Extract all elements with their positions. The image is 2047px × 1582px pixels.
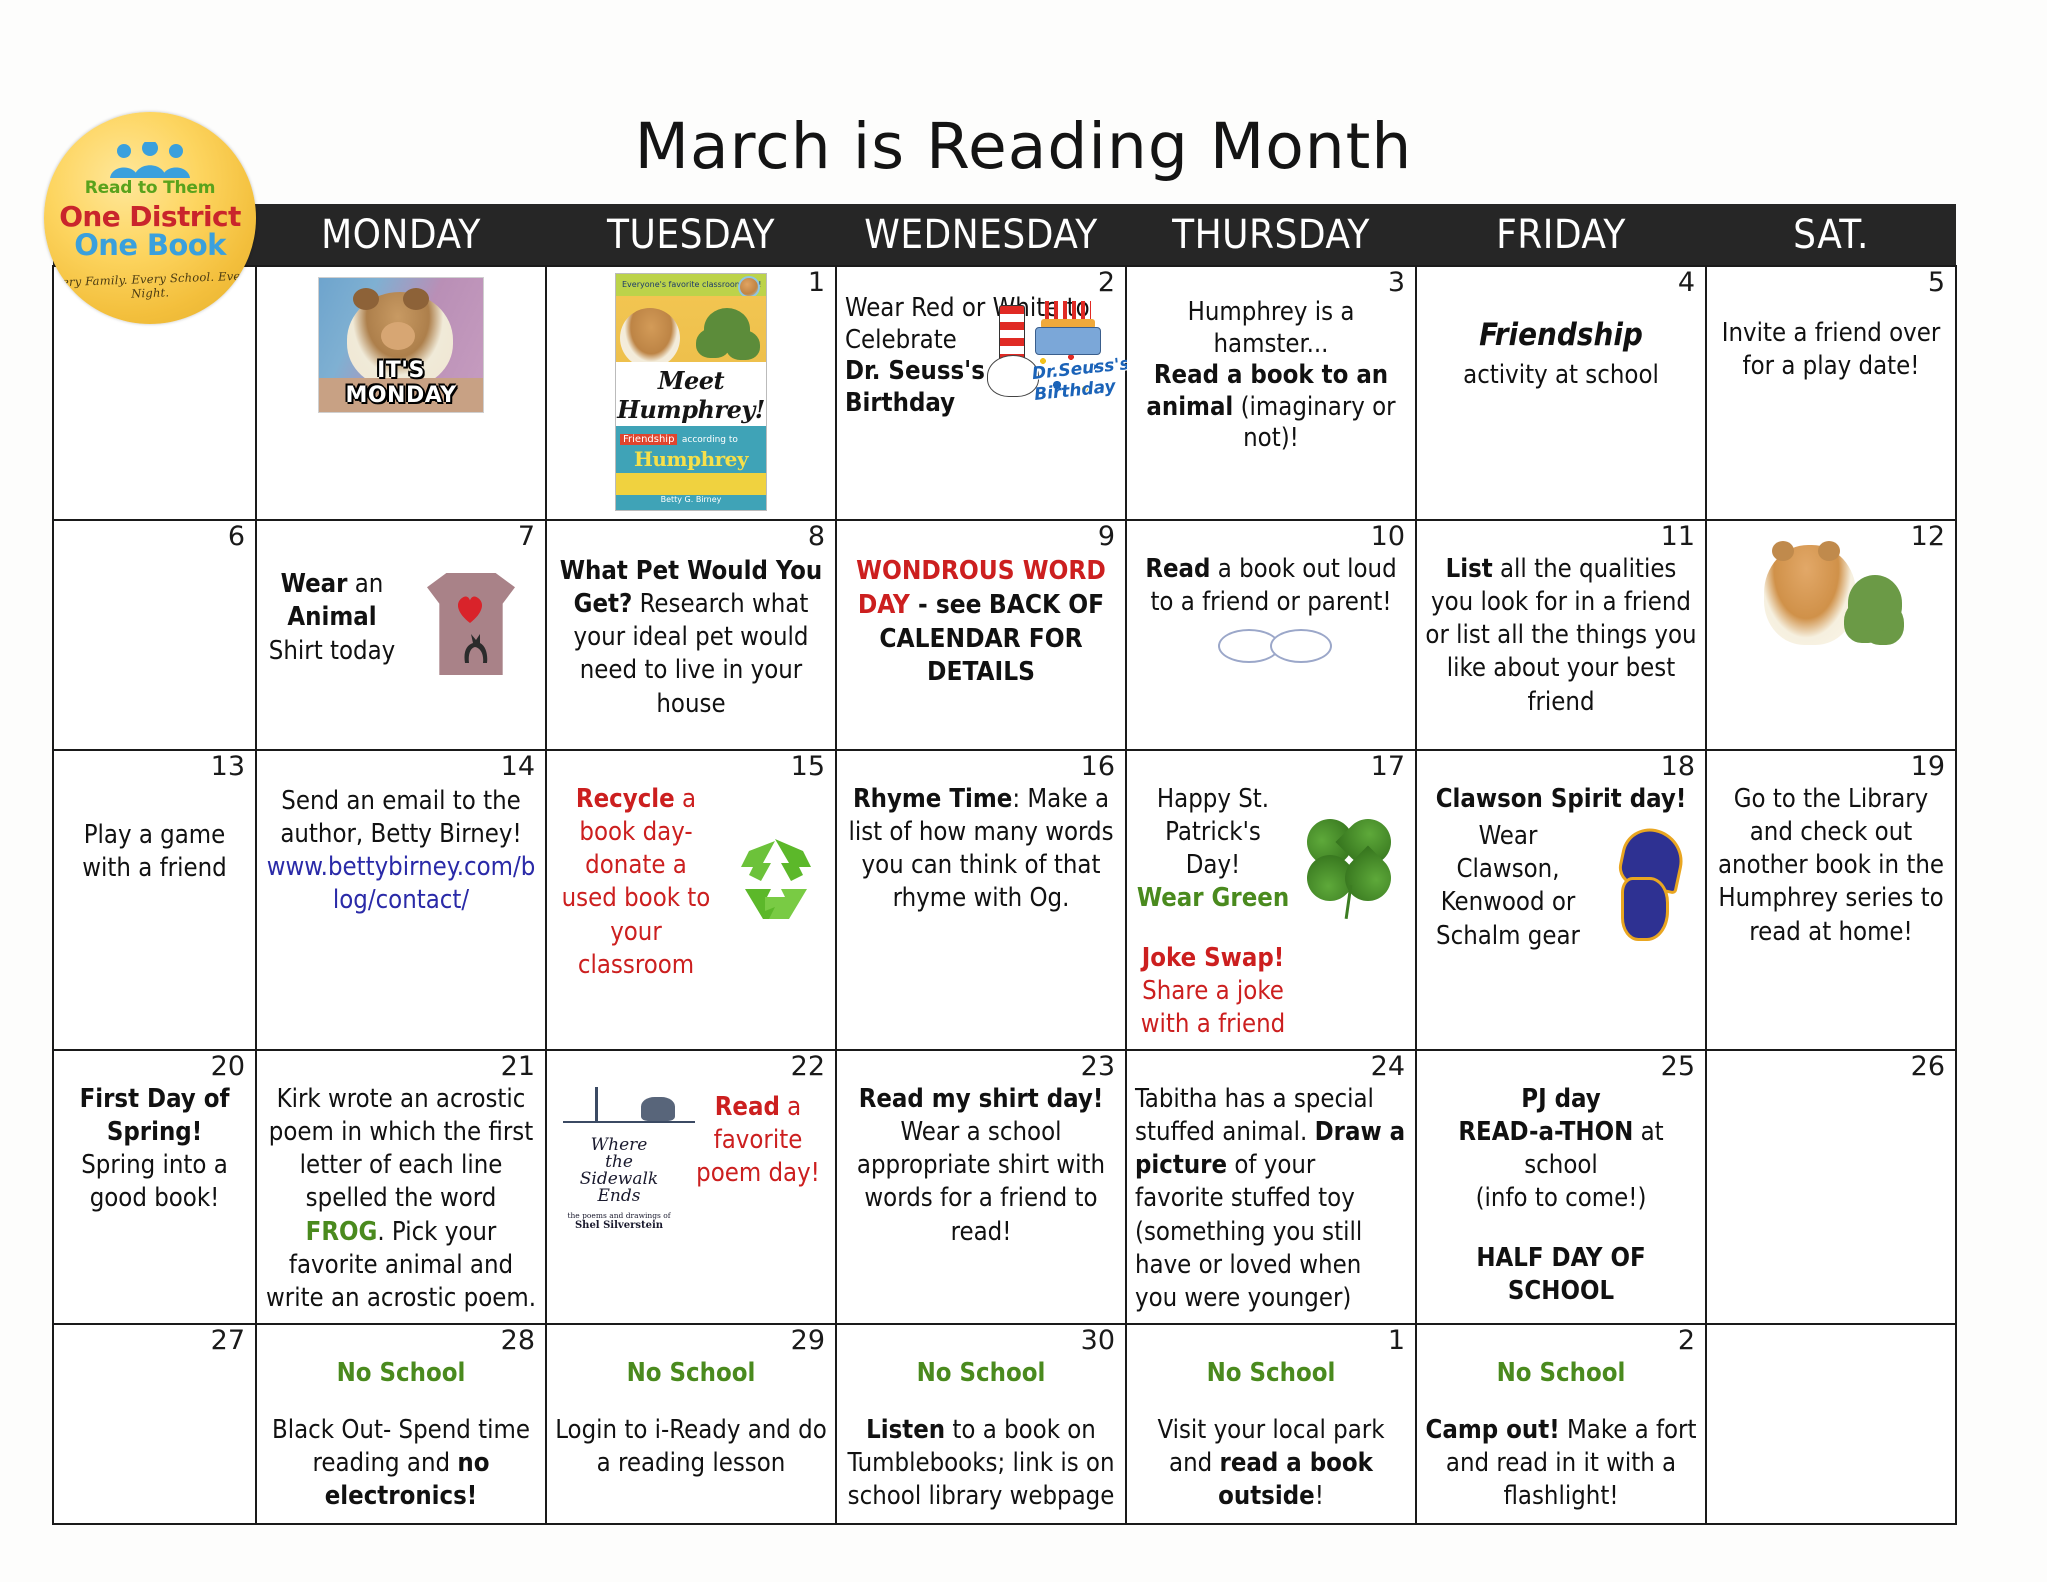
cell-text-line: donate a used book to your classroom: [555, 849, 717, 982]
calendar-cell-day-25[interactable]: 25 PJ day READ-a-THON at school (info to…: [1416, 1050, 1706, 1324]
cell-text-line: Go to the Library and check out another …: [1715, 783, 1947, 949]
calendar-cell-day-9[interactable]: 9 WONDROUS WORD DAY - see BACK OF CALEND…: [836, 520, 1126, 750]
day-number: 7: [518, 523, 535, 550]
cell-text-line: Animal: [265, 601, 399, 634]
day-header-monday: MONDAY: [256, 204, 546, 266]
cell-text-line: Read: [715, 1092, 780, 1122]
day-number: 4: [1678, 269, 1695, 296]
four-leaf-clover-icon: [1297, 809, 1407, 921]
cell-text-line: Wear Green: [1135, 882, 1291, 915]
cell-text-line: Invite a friend over for a play date!: [1715, 317, 1947, 383]
hamster-badge-icon: [738, 276, 760, 298]
day-number: 2: [1678, 1327, 1695, 1354]
calendar-cell-day-28[interactable]: 27 28 No School Black Out- Spend time re…: [256, 1324, 546, 1524]
calendar-week-row: 13 Play a game with a friend 14 Send an …: [53, 750, 1956, 1050]
day-number: 8: [808, 523, 825, 550]
animal-shirt-icon: [405, 555, 537, 681]
one-district-one-book-logo: Read to Them One District One Book Every…: [44, 112, 256, 324]
calendar-cell-day-4[interactable]: 4 Friendship activity at school: [1416, 266, 1706, 520]
day-number: 27: [211, 1327, 245, 1354]
cat-silhouette-icon: [457, 629, 493, 663]
book-series-small: according to: [682, 435, 738, 445]
calendar-header-row: MONDAY TUESDAY WEDNESDAY THURSDAY FRIDAY…: [53, 204, 1956, 266]
book-author: Betty G. Birney: [616, 495, 766, 504]
cell-text-line: READ-a-THON: [1458, 1117, 1633, 1147]
calendar-cell-day-20[interactable]: 20 First Day of Spring! Spring into a go…: [53, 1050, 256, 1324]
meme-caption: IT'S MONDAY: [319, 358, 483, 408]
cell-text-line: Play a game with a friend: [62, 819, 247, 885]
cell-text-line: (info to come!): [1425, 1182, 1697, 1215]
no-school-badge: No School: [1135, 1357, 1407, 1390]
day-number: 25: [1661, 1053, 1695, 1080]
day-number: 19: [1911, 753, 1945, 780]
day-number: 12: [1911, 523, 1945, 550]
cell-text-line: Send an email to the author, Betty Birne…: [265, 785, 537, 851]
calendar-cell-day-3[interactable]: 3 Humphrey is a hamster... Read a book t…: [1126, 266, 1416, 520]
day-number: 20: [211, 1053, 245, 1080]
day-number: 1: [808, 269, 825, 296]
cell-text-line: favorite poem day!: [689, 1124, 827, 1190]
calendar-cell-day-21[interactable]: 21 Kirk wrote an acrostic poem in which …: [256, 1050, 546, 1324]
calendar-cell-day-8[interactable]: 8 What Pet Would You Get? Research what …: [546, 520, 836, 750]
meet-humphrey-book-cover-image: Everyone's favorite classroom pet! Meet …: [615, 273, 767, 511]
day-number: 3: [1388, 269, 1405, 296]
day-number: 24: [1371, 1053, 1405, 1080]
calendar-cell-day-27[interactable]: 27: [53, 1324, 256, 1524]
calendar-week-row: 27 27 28 No School Black Out- Spend time…: [53, 1324, 1956, 1524]
seuss-birthday-caption: Dr.Seuss's Birthday: [1031, 354, 1133, 406]
day-header-saturday: SAT.: [1706, 204, 1956, 266]
book-subtitle: the poems and drawings of: [555, 1211, 683, 1220]
day-number: 9: [1098, 523, 1115, 550]
calendar-cell-empty-end: [1706, 1324, 1956, 1524]
day-header-wednesday: WEDNESDAY: [836, 204, 1126, 266]
day-number: 17: [1371, 753, 1405, 780]
calendar-cell-day-12[interactable]: 12: [1706, 520, 1956, 750]
cell-text-line: Read: [1145, 554, 1210, 584]
calendar-cell-day-2[interactable]: 2 Wear Red or White to Celebrate Dr. Seu…: [836, 266, 1126, 520]
cell-text-line: Humphrey is a hamster...: [1135, 297, 1407, 360]
calendar-cell-day-30[interactable]: 30 No School Listen to a book on Tumbleb…: [836, 1324, 1126, 1524]
cell-text-line: Login to i-Ready and do a reading lesson: [555, 1414, 827, 1480]
day-number: 21: [501, 1053, 535, 1080]
no-school-badge: No School: [845, 1357, 1117, 1390]
calendar-week-row: 6 7 Wear an Animal Shirt today: [53, 520, 1956, 750]
day-number: 11: [1661, 523, 1695, 550]
cell-text-line: Shirt today: [265, 635, 399, 668]
cell-text-line: First Day of Spring!: [62, 1083, 247, 1149]
calendar-grid: MONDAY TUESDAY WEDNESDAY THURSDAY FRIDAY…: [52, 204, 1956, 1525]
day-number: 29: [791, 1327, 825, 1354]
calendar-cell-day-6[interactable]: 6: [53, 520, 256, 750]
calendar-cell-day-14[interactable]: 14 Send an email to the author, Betty Bi…: [256, 750, 546, 1050]
cell-text-line: Wear Clawson, Kenwood or Schalm gear: [1425, 820, 1591, 953]
calendar-cell-day-23[interactable]: 23 Read my shirt day! Wear a school appr…: [836, 1050, 1126, 1324]
day-number: 18: [1661, 753, 1695, 780]
cell-text-line: Wear: [281, 569, 348, 599]
cell-text-line: Spring into a good book!: [62, 1149, 247, 1215]
two-people-speech-bubbles-icon: [1166, 627, 1376, 717]
author-contact-link[interactable]: www.bettybirney.com/blog/contact/: [265, 851, 537, 917]
calendar-cell-day-24[interactable]: 24 Tabitha has a special stuffed animal.…: [1126, 1050, 1416, 1324]
calendar-cell-day-22[interactable]: 22 Where the Sidewalk Ends the poems and…: [546, 1050, 836, 1324]
day-number: 1: [1388, 1327, 1405, 1354]
calendar-cell-monday-blank[interactable]: IT'S MONDAY: [256, 266, 546, 520]
calendar-cell-day-29[interactable]: 29 No School Login to i-Ready and do a r…: [546, 1324, 836, 1524]
page-title: March is Reading Month: [0, 110, 2047, 183]
clawson-trojan-mascot-icon: [1597, 827, 1697, 945]
calendar-body: IT'S MONDAY 1 Everyone's favorite classr…: [53, 266, 1956, 1524]
day-header-friday: FRIDAY: [1416, 204, 1706, 266]
calendar-cell-day-19[interactable]: 19 Go to the Library and check out anoth…: [1706, 750, 1956, 1050]
no-school-badge: No School: [265, 1357, 537, 1390]
calendar-page: March is Reading Month Read to Them One …: [0, 0, 2047, 1582]
day-header-tuesday: TUESDAY: [546, 204, 836, 266]
hamster-with-frog-photo: [1756, 535, 1906, 655]
day-number: 28: [501, 1327, 535, 1354]
logo-line-two: One Book: [44, 228, 256, 262]
calendar-cell-day-26[interactable]: 26: [1706, 1050, 1956, 1324]
cell-text-line: Friendship: [1425, 315, 1697, 355]
book-series-label: Friendship: [620, 434, 677, 445]
day-number: 14: [501, 753, 535, 780]
calendar-cell-day-5[interactable]: 5 Invite a friend over for a play date!: [1706, 266, 1956, 520]
dr-seuss-birthday-hat-icon: Dr.Seuss's Birthday: [973, 299, 1123, 409]
day-number: 23: [1081, 1053, 1115, 1080]
where-the-sidewalk-ends-book-cover: Where the Sidewalk Ends the poems and dr…: [555, 1083, 683, 1231]
no-school-badge: No School: [555, 1357, 827, 1390]
calendar-cell-day-13[interactable]: 13 Play a game with a friend: [53, 750, 256, 1050]
cell-text-line: Camp out!: [1426, 1415, 1560, 1445]
cell-text-line: Joke Swap!: [1135, 942, 1291, 975]
day-number: 30: [1081, 1327, 1115, 1354]
calendar-cell-day-16[interactable]: 16 Rhyme Time: Make a list of how many w…: [836, 750, 1126, 1050]
calendar-cell-day-1[interactable]: 1 Everyone's favorite classroom pet! Mee…: [546, 266, 836, 520]
cell-text-line: Wear a school appropriate shirt with wor…: [845, 1116, 1117, 1249]
cell-text-line: activity at school: [1425, 359, 1697, 392]
calendar-cell-day-15[interactable]: 15 Recycle a book day- donate a used boo…: [546, 750, 836, 1050]
calendar-cell-day-10[interactable]: 10 Read a book out loud to a friend or p…: [1126, 520, 1416, 750]
three-people-icon: [104, 142, 196, 178]
cell-text-line: Read my shirt day!: [845, 1083, 1117, 1116]
cell-text-line: Kirk wrote an acrostic poem in which the…: [269, 1084, 533, 1213]
book-title-line: Ends: [555, 1188, 683, 1205]
day-number: 15: [791, 753, 825, 780]
cell-text-line: Read a book to an animal (imaginary or n…: [1135, 360, 1407, 455]
cell-text-line: Share a joke with a friend: [1135, 975, 1291, 1041]
cell-text-line: List: [1446, 554, 1493, 584]
calendar-cell-day-11[interactable]: 11 List all the qualities you look for i…: [1416, 520, 1706, 750]
logo-org-name: Read to Them: [44, 178, 256, 198]
day-number: 26: [1911, 1053, 1945, 1080]
cell-text-line: Rhyme Time: [853, 784, 1012, 814]
cell-text-line: Happy St. Patrick's Day!: [1135, 783, 1291, 882]
cell-text-line: Listen: [866, 1415, 945, 1445]
book-author: Shel Silverstein: [555, 1220, 683, 1231]
book-series-title: Humphrey: [616, 447, 766, 471]
book-title: Meet Humphrey!: [616, 362, 766, 426]
recycle-icon: [723, 833, 827, 931]
calendar-cell-day-18[interactable]: 18 Clawson Spirit day! Wear Clawson, Ken…: [1416, 750, 1706, 1050]
calendar-cell-day-7[interactable]: 7 Wear an Animal Shirt today: [256, 520, 546, 750]
cell-text-line: HALF DAY OF SCHOOL: [1425, 1242, 1697, 1308]
no-school-badge: No School: [1425, 1357, 1697, 1390]
day-number: 22: [791, 1053, 825, 1080]
day-number: 2: [1098, 269, 1115, 296]
calendar-week-row: IT'S MONDAY 1 Everyone's favorite classr…: [53, 266, 1956, 520]
cell-text-line: Clawson Spirit day!: [1425, 783, 1697, 816]
day-number: 6: [228, 523, 245, 550]
calendar-cell-april-1[interactable]: 1 No School Visit your local park and re…: [1126, 1324, 1416, 1524]
day-header-thursday: THURSDAY: [1126, 204, 1416, 266]
calendar-week-row: 20 First Day of Spring! Spring into a go…: [53, 1050, 1956, 1324]
calendar-cell-day-17[interactable]: 17 Happy St. Patrick's Day! Wear Green J…: [1126, 750, 1416, 1050]
day-number: 13: [211, 753, 245, 780]
day-number: 5: [1928, 269, 1945, 296]
its-monday-hamster-meme-image: IT'S MONDAY: [318, 277, 484, 413]
day-number: 16: [1081, 753, 1115, 780]
calendar-cell-april-2[interactable]: 2 No School Camp out! Make a fort and re…: [1416, 1324, 1706, 1524]
cell-text-line: Recycle: [576, 784, 675, 814]
cell-text-line: PJ day: [1425, 1083, 1697, 1116]
cell-text-line: Black Out- Spend time reading and: [272, 1415, 530, 1478]
day-number: 10: [1371, 523, 1405, 550]
